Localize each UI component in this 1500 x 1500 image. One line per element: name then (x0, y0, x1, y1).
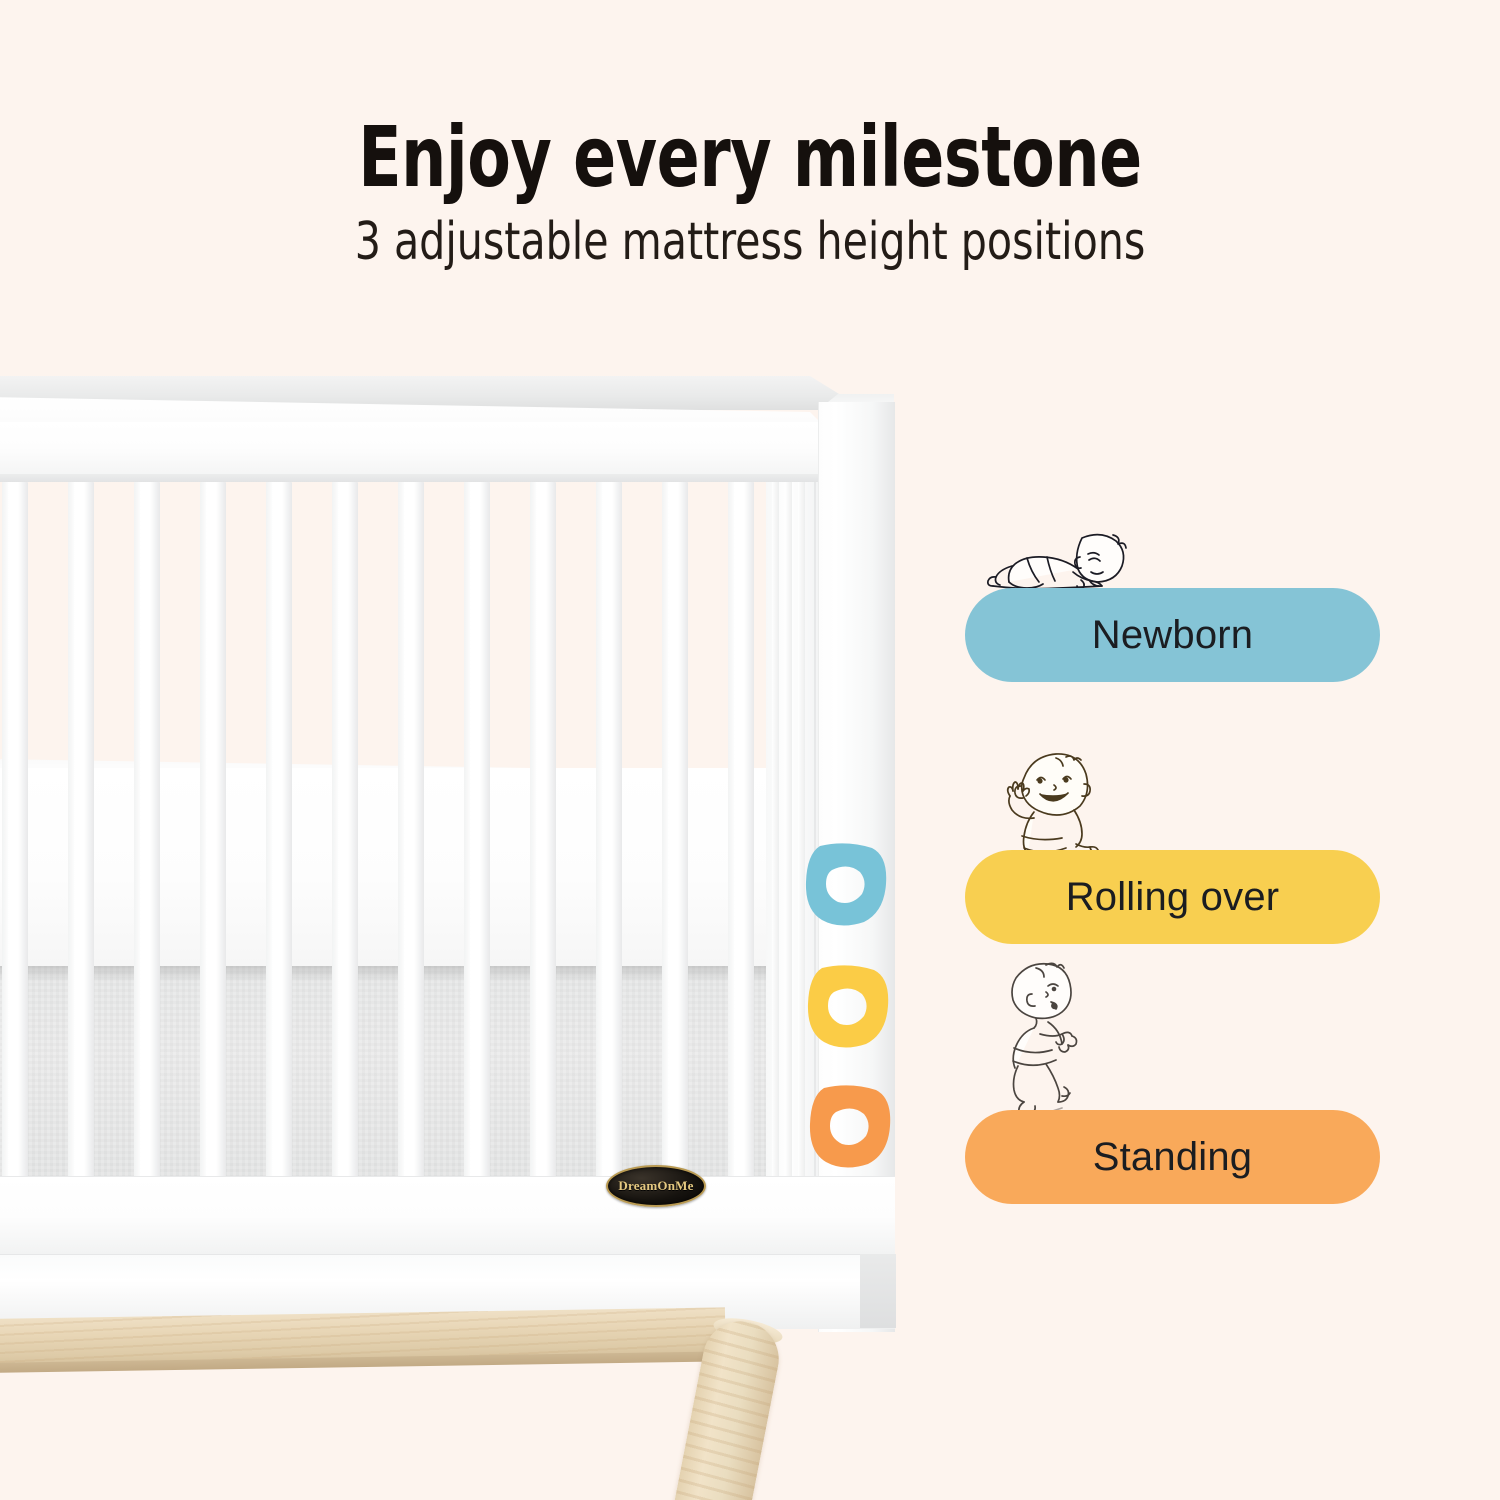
crib-slat (596, 482, 622, 1182)
brand-badge: DreamOnMe (606, 1165, 706, 1207)
mattress-height-ring-rolling-over (804, 962, 892, 1052)
milestone-pill-rolling-over[interactable]: Rolling over (965, 850, 1380, 944)
crib-top-rail-edge (0, 474, 835, 482)
milestone-label-rolling-over: Rolling over (1066, 875, 1280, 920)
crib-slat (200, 482, 226, 1182)
crib-slat (662, 482, 688, 1182)
brand-badge-label: DreamOnMe (618, 1178, 693, 1194)
crib-slat (398, 482, 424, 1182)
milestone-pill-standing[interactable]: Standing (965, 1110, 1380, 1204)
crib-base-rail-end (860, 1254, 896, 1328)
crib-slat (728, 482, 754, 1182)
milestone-label-standing: Standing (1093, 1135, 1253, 1180)
milestone-pill-newborn[interactable]: Newborn (965, 588, 1380, 682)
crib-slat (266, 482, 292, 1182)
crib-bottom-rail (0, 1176, 895, 1257)
page-title: Enjoy every milestone (120, 108, 1380, 206)
crib-product-photo: DreamOnMe (0, 370, 950, 1500)
milestone-label-newborn: Newborn (1092, 613, 1253, 658)
crib-slat (134, 482, 160, 1182)
baby-standing-walking-icon (988, 956, 1113, 1121)
crib-slat (464, 482, 490, 1182)
mattress-height-ring-standing (806, 1082, 894, 1172)
crib-slat (68, 482, 94, 1182)
crib-slat (530, 482, 556, 1182)
crib-end-slat (772, 482, 779, 1272)
crib-slat (332, 482, 358, 1182)
crib-slat (2, 482, 28, 1182)
marketing-image: Enjoy every milestone 3 adjustable mattr… (0, 0, 1500, 1500)
mattress-height-ring-newborn (802, 840, 890, 930)
crib-top-rail (0, 422, 835, 481)
page-subtitle: 3 adjustable mattress height positions (90, 212, 1410, 272)
crib-end-slat (785, 482, 792, 1272)
baby-lying-on-tummy-icon (985, 524, 1145, 594)
